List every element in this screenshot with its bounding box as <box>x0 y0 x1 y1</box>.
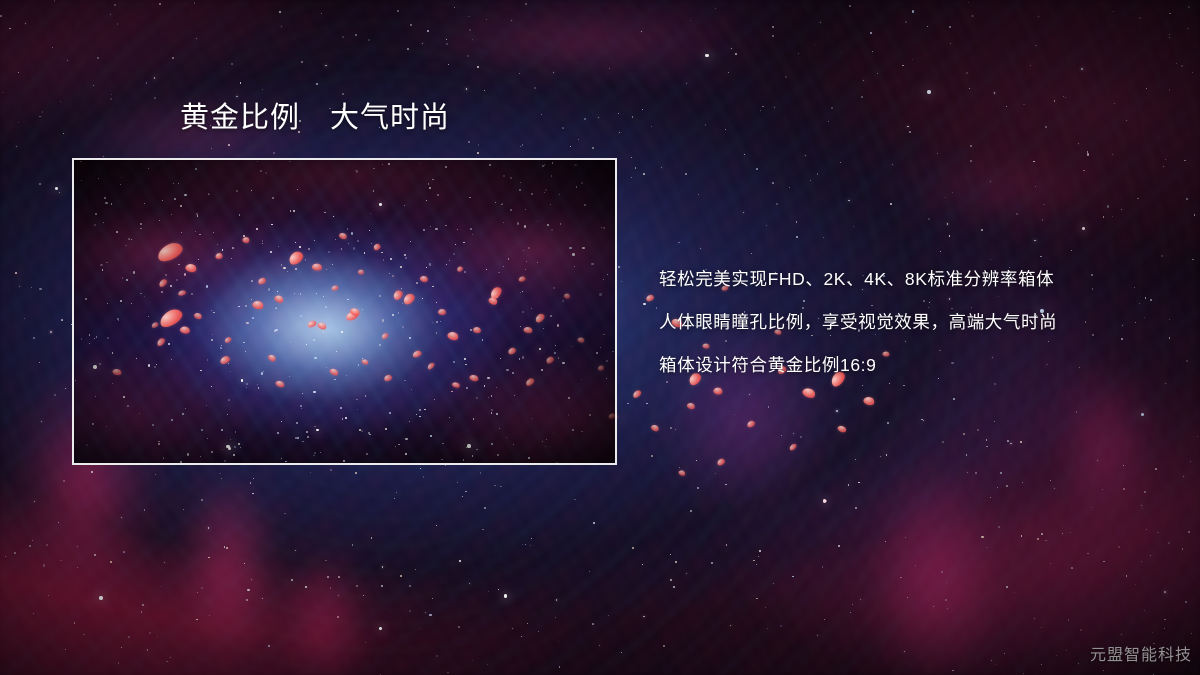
star <box>810 180 811 181</box>
star <box>1045 540 1047 542</box>
star <box>824 619 826 621</box>
star <box>0 15 2 17</box>
star <box>1135 584 1136 585</box>
star <box>698 194 699 195</box>
star <box>968 2 969 3</box>
star <box>446 43 448 45</box>
star <box>1035 45 1037 47</box>
star <box>700 248 701 249</box>
star <box>1185 601 1186 602</box>
star <box>593 522 595 524</box>
star <box>1078 663 1079 664</box>
star <box>814 44 815 45</box>
frame-vignette <box>74 160 615 463</box>
star <box>110 14 111 15</box>
star <box>196 38 197 39</box>
star <box>642 109 643 110</box>
star <box>43 564 45 566</box>
star <box>511 20 512 21</box>
star <box>50 331 51 332</box>
star <box>454 7 455 8</box>
star <box>1146 529 1147 530</box>
star <box>641 31 642 32</box>
star <box>618 113 619 114</box>
petal <box>646 294 655 302</box>
bright-star <box>504 594 507 597</box>
star <box>1188 531 1190 533</box>
petal <box>712 386 723 395</box>
star <box>1152 632 1153 633</box>
star <box>749 394 750 395</box>
star <box>170 657 171 658</box>
star <box>923 420 924 421</box>
star <box>371 537 373 539</box>
star <box>1041 627 1042 628</box>
star <box>486 19 487 20</box>
bright-star <box>1082 227 1085 230</box>
star <box>1187 28 1189 30</box>
star <box>651 455 653 457</box>
star <box>415 569 416 570</box>
star <box>273 152 275 154</box>
star <box>1137 198 1138 199</box>
star <box>1092 507 1093 508</box>
star <box>1169 34 1170 35</box>
star <box>480 472 481 473</box>
star <box>927 26 928 27</box>
star <box>525 544 526 545</box>
star <box>966 454 967 455</box>
star <box>850 612 851 613</box>
bright-star <box>705 54 708 57</box>
star <box>981 229 982 230</box>
star <box>325 560 327 562</box>
star <box>250 482 252 484</box>
star <box>785 76 787 78</box>
star <box>472 39 473 40</box>
star <box>356 585 358 587</box>
star <box>252 493 254 495</box>
star <box>1038 16 1039 17</box>
star <box>154 97 156 99</box>
star <box>407 48 409 50</box>
star <box>1080 629 1082 631</box>
petal <box>677 469 686 477</box>
star <box>457 482 458 483</box>
star <box>1155 468 1156 469</box>
star <box>679 467 680 468</box>
star <box>1126 575 1128 577</box>
star <box>1157 532 1158 533</box>
star <box>643 303 645 305</box>
star <box>9 28 11 30</box>
star <box>905 537 906 538</box>
star <box>772 35 774 37</box>
star <box>128 636 130 638</box>
star <box>743 212 744 213</box>
star <box>781 435 782 436</box>
star <box>562 127 564 129</box>
star <box>1023 673 1025 675</box>
star <box>990 497 991 498</box>
star <box>487 664 488 665</box>
star <box>900 577 901 578</box>
star <box>327 576 329 578</box>
star <box>798 53 799 54</box>
star <box>928 218 930 220</box>
star <box>933 606 934 607</box>
star <box>59 192 60 193</box>
star <box>18 72 19 73</box>
star <box>446 39 447 40</box>
star <box>768 406 769 407</box>
star <box>756 564 757 565</box>
star <box>836 410 837 411</box>
star <box>521 636 522 637</box>
star <box>858 482 859 483</box>
star <box>1142 508 1143 509</box>
star <box>726 544 727 545</box>
star <box>946 582 947 583</box>
bright-star <box>55 187 58 190</box>
star <box>849 5 851 7</box>
star <box>825 500 827 502</box>
photo-frame <box>72 158 617 465</box>
star <box>632 116 633 117</box>
star <box>1123 465 1124 466</box>
star <box>608 615 609 616</box>
star <box>447 672 448 673</box>
star <box>609 68 610 69</box>
star <box>619 132 620 133</box>
star <box>468 16 469 17</box>
star <box>855 507 856 508</box>
star <box>860 599 861 600</box>
star <box>592 623 594 625</box>
star <box>160 586 161 587</box>
star <box>725 484 727 486</box>
star <box>558 641 559 642</box>
star <box>268 645 269 646</box>
star <box>817 635 818 636</box>
star <box>25 23 26 24</box>
star <box>60 101 61 102</box>
star <box>33 613 34 614</box>
star <box>196 619 198 621</box>
star <box>621 652 622 653</box>
star <box>998 526 1000 528</box>
star <box>1183 476 1184 477</box>
star <box>838 545 840 547</box>
star <box>823 237 824 238</box>
star <box>436 655 438 657</box>
star <box>848 484 849 485</box>
star <box>209 615 210 616</box>
star <box>478 144 480 146</box>
star <box>670 579 672 581</box>
star <box>247 589 249 591</box>
star <box>458 626 460 628</box>
star <box>469 583 470 584</box>
star <box>420 468 421 469</box>
star <box>553 72 554 73</box>
star <box>121 517 122 518</box>
star <box>1016 213 1018 215</box>
star <box>841 52 842 53</box>
star <box>400 575 402 577</box>
star <box>1033 161 1035 163</box>
star <box>940 251 941 252</box>
star <box>877 73 878 74</box>
star <box>905 21 907 23</box>
star <box>1007 440 1009 442</box>
star <box>685 173 687 175</box>
star <box>1087 151 1089 153</box>
star <box>197 592 198 593</box>
star <box>977 429 979 431</box>
star <box>1161 255 1163 257</box>
star <box>780 625 782 627</box>
star <box>39 362 40 363</box>
body-line-2: 人体眼睛瞳孔比例，享受视觉效果，高端大气时尚 <box>659 301 1179 344</box>
star <box>1121 634 1122 635</box>
star <box>1071 567 1073 569</box>
star <box>1071 250 1072 251</box>
star <box>1103 216 1104 217</box>
star <box>117 23 119 25</box>
star <box>52 47 53 48</box>
star <box>512 628 513 629</box>
star <box>949 26 951 28</box>
star <box>686 573 687 574</box>
star <box>735 53 737 55</box>
star <box>1023 104 1025 106</box>
star <box>1062 533 1063 534</box>
star <box>840 162 841 163</box>
star <box>484 507 485 508</box>
star <box>643 616 645 618</box>
star <box>142 604 144 606</box>
star <box>159 3 161 5</box>
star <box>488 591 489 592</box>
star <box>164 562 165 563</box>
star <box>1114 103 1115 104</box>
star <box>686 83 687 84</box>
star <box>397 10 399 12</box>
star <box>967 472 968 473</box>
star <box>949 235 950 236</box>
star <box>952 192 953 193</box>
star <box>253 478 254 479</box>
star <box>342 93 344 95</box>
star <box>796 236 798 238</box>
star <box>589 571 590 572</box>
star <box>114 4 116 6</box>
star <box>1150 555 1151 556</box>
star <box>321 13 322 14</box>
star <box>953 398 955 400</box>
bright-star <box>927 90 931 94</box>
star <box>599 645 600 646</box>
star <box>494 485 496 487</box>
star <box>1164 628 1165 629</box>
star <box>1043 204 1044 205</box>
star <box>1056 655 1057 656</box>
page-title: 黄金比例 大气时尚 <box>180 102 450 135</box>
star <box>365 642 366 643</box>
star <box>817 173 819 175</box>
star <box>1030 65 1031 66</box>
petal <box>837 425 848 435</box>
star <box>477 152 479 154</box>
star <box>767 628 768 629</box>
star <box>789 187 790 188</box>
star <box>281 26 282 27</box>
star <box>1054 488 1055 489</box>
star <box>886 454 887 455</box>
star <box>482 529 483 530</box>
star <box>224 546 225 547</box>
star <box>42 111 44 113</box>
star <box>465 491 466 492</box>
star <box>793 433 794 434</box>
petal <box>632 389 643 399</box>
star <box>1192 72 1193 73</box>
star <box>756 168 758 170</box>
star <box>574 499 575 500</box>
star <box>228 144 230 146</box>
star <box>284 513 285 514</box>
star <box>155 474 156 475</box>
star <box>621 281 622 282</box>
star <box>773 583 774 584</box>
star <box>766 225 767 226</box>
star <box>110 561 112 563</box>
star <box>765 607 766 608</box>
star <box>74 622 75 623</box>
star <box>423 476 425 478</box>
star <box>1063 96 1064 97</box>
star <box>2 92 3 93</box>
bright-star <box>1141 413 1144 416</box>
star <box>760 110 761 111</box>
star <box>65 649 66 650</box>
star <box>696 460 697 461</box>
star <box>912 10 914 12</box>
star <box>531 538 533 540</box>
star <box>208 557 210 559</box>
star <box>912 59 913 60</box>
star <box>947 608 948 609</box>
star <box>29 545 31 547</box>
star <box>870 32 872 34</box>
star <box>1184 160 1185 161</box>
star <box>631 177 632 178</box>
star <box>534 87 535 88</box>
star <box>498 589 499 590</box>
star <box>1190 461 1192 463</box>
star <box>971 15 973 17</box>
star <box>172 57 174 59</box>
star <box>1164 591 1166 593</box>
star <box>58 522 59 523</box>
star <box>1083 170 1084 171</box>
star <box>520 146 521 147</box>
star <box>1144 491 1146 493</box>
star <box>325 65 326 66</box>
star <box>1070 532 1071 533</box>
star <box>39 116 40 117</box>
star <box>1034 618 1035 619</box>
star <box>1164 619 1165 620</box>
star <box>24 318 25 319</box>
star <box>530 545 531 546</box>
star <box>598 117 599 118</box>
star <box>157 636 158 637</box>
star <box>368 39 370 41</box>
star <box>477 66 478 67</box>
star <box>1192 259 1194 261</box>
star <box>432 598 433 599</box>
star <box>1004 653 1005 654</box>
star <box>1037 538 1039 540</box>
star <box>409 610 411 612</box>
petal <box>716 457 726 466</box>
star <box>295 550 296 551</box>
star <box>774 107 775 108</box>
star <box>1050 563 1051 564</box>
star <box>445 465 446 466</box>
star <box>1169 13 1170 14</box>
star <box>77 567 78 568</box>
star <box>484 90 485 91</box>
star <box>279 11 281 13</box>
star <box>584 118 586 120</box>
star <box>945 197 946 198</box>
photo-frame-image <box>74 160 615 463</box>
star <box>1006 106 1007 107</box>
star <box>678 242 679 243</box>
star <box>61 319 63 321</box>
star <box>46 544 48 546</box>
star <box>725 129 726 130</box>
star <box>18 122 19 123</box>
star <box>338 595 339 596</box>
star <box>31 287 32 288</box>
star <box>1141 561 1142 562</box>
star <box>118 662 119 663</box>
star <box>1050 480 1051 481</box>
star <box>907 597 908 598</box>
star <box>1188 6 1190 8</box>
star <box>262 598 263 599</box>
star <box>194 2 196 4</box>
star <box>986 439 988 441</box>
star <box>519 73 520 74</box>
star <box>762 106 764 108</box>
star <box>861 96 863 98</box>
bright-star <box>379 627 382 630</box>
star <box>91 471 93 473</box>
star <box>1103 670 1104 671</box>
watermark: 元盟智能科技 <box>1090 641 1192 665</box>
star <box>1146 88 1147 89</box>
star <box>880 456 881 457</box>
star <box>796 221 798 223</box>
star <box>63 480 65 482</box>
star <box>251 579 252 580</box>
star <box>54 0 56 2</box>
